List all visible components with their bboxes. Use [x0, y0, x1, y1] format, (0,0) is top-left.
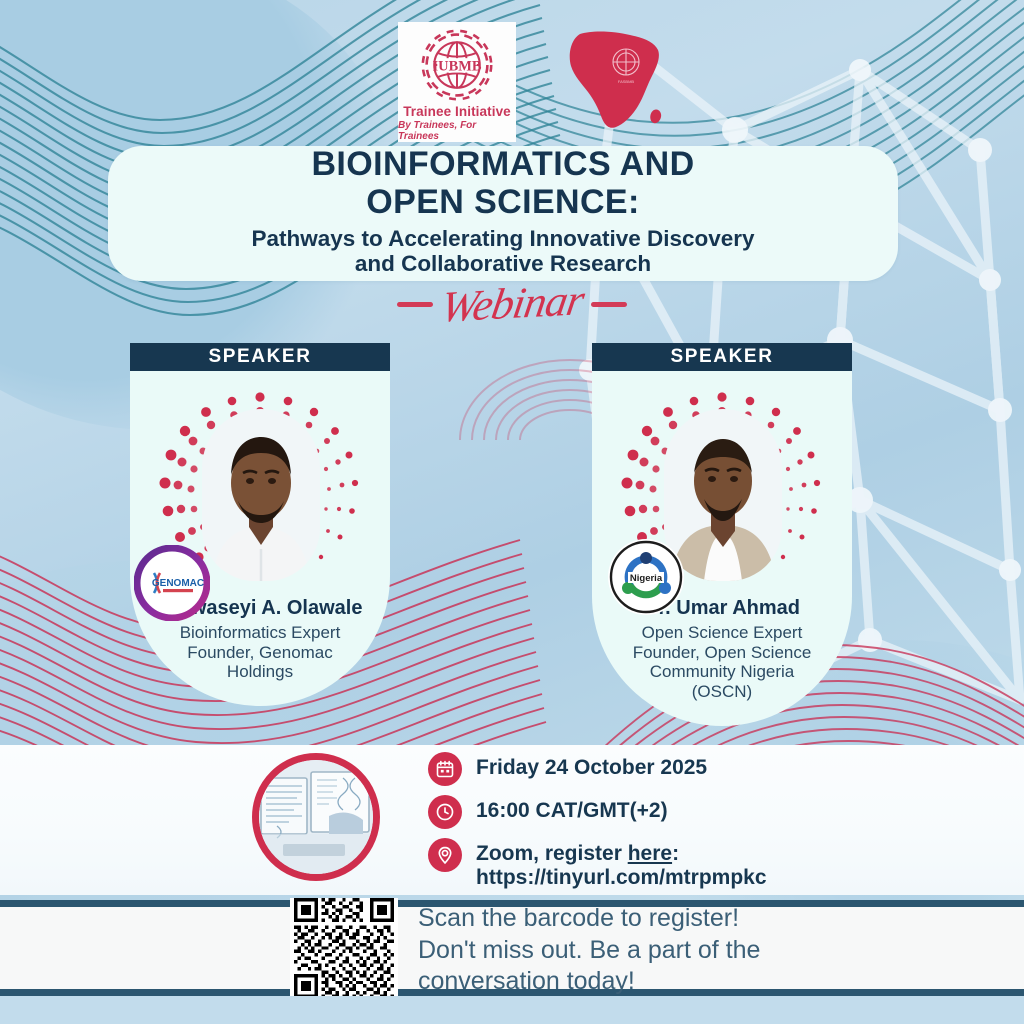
event-link-row[interactable]: Zoom, register here: https://tinyurl.com… [428, 838, 948, 891]
webinar-dash-left [397, 302, 433, 307]
subtitle-line-2: and Collaborative Research [251, 251, 754, 276]
clock-icon [428, 795, 462, 829]
event-details-list: Friday 24 October 2025 16:00 CAT/GMT(+2) [428, 752, 948, 900]
genomac-label: GENOMAC [152, 578, 204, 589]
iubmb-tagline-2: By Trainees, For Trainees [398, 120, 516, 142]
speaker-1-badge: GENOMAC [134, 545, 210, 621]
speaker-1-portrait [202, 409, 320, 581]
africa-map-icon: FASBMB [558, 26, 676, 142]
footer-line-1: Scan the barcode to register! [418, 903, 978, 935]
speaker-1-role: Bioinformatics Expert Founder, Genomac H… [180, 623, 341, 682]
speaker-2-role-line-3: Community Nigeria [633, 662, 812, 682]
register-url[interactable]: https://tinyurl.com/mtrpmpkc [476, 866, 767, 889]
event-date-row: Friday 24 October 2025 [428, 752, 948, 786]
speaker-2-role: Open Science Expert Founder, Open Scienc… [633, 623, 812, 702]
oscn-nigeria-logo-icon: Nigeria [608, 539, 684, 615]
register-prefix: Zoom, register [476, 842, 628, 865]
webinar-poster: IUBMB Trainee Initiative By Trainees, Fo… [0, 0, 1024, 1024]
calendar-icon [428, 752, 462, 786]
speaker-2-role-line-4: (OSCN) [633, 682, 812, 702]
genomac-logo-icon: GENOMAC [134, 545, 210, 621]
speaker-1-role-line-2: Founder, Genomac [180, 643, 341, 663]
oscn-label: Nigeria [630, 573, 663, 584]
speaker-2-role-line-2: Founder, Open Science [633, 643, 812, 663]
speaker-card-1: SPEAKER [130, 343, 390, 706]
bioinformatics-workstation-photo [252, 753, 380, 881]
iubmb-globe-icon: IUBMB [418, 27, 496, 103]
footer-bottom-strip [0, 996, 1024, 1024]
webinar-script-label: Webinar [0, 276, 1024, 332]
register-suffix: : [672, 842, 679, 865]
event-time-row: 16:00 CAT/GMT(+2) [428, 795, 948, 829]
footer-cta-text: Scan the barcode to register! Don't miss… [418, 903, 978, 998]
speaker-1-role-line-1: Bioinformatics Expert [180, 623, 341, 643]
iubmb-logo: IUBMB Trainee Initiative By Trainees, Fo… [398, 22, 516, 142]
event-time-text: 16:00 CAT/GMT(+2) [476, 795, 668, 823]
speaker-1-header: SPEAKER [130, 343, 390, 371]
speaker-1-photo-wrap: GENOMAC [156, 389, 364, 585]
africa-emblem-caption: FASBMB [618, 79, 635, 84]
speaker-1-role-line-3: Holdings [180, 662, 341, 682]
speaker-2-role-line-1: Open Science Expert [633, 623, 812, 643]
event-link-text[interactable]: Zoom, register here: https://tinyurl.com… [476, 838, 767, 891]
footer-line-3: conversation today! [418, 966, 978, 998]
page-subtitle: Pathways to Accelerating Innovative Disc… [251, 226, 754, 277]
speaker-2-header: SPEAKER [592, 343, 852, 371]
event-date-text: Friday 24 October 2025 [476, 752, 707, 780]
title-line-1: BIOINFORMATICS AND [311, 145, 694, 183]
footer-line-2: Don't miss out. Be a part of the [418, 935, 978, 967]
iubmb-tagline-1: Trainee Initiative [403, 104, 511, 119]
title-panel: BIOINFORMATICS AND OPEN SCIENCE: Pathway… [108, 146, 898, 281]
title-line-2: OPEN SCIENCE: [311, 185, 694, 220]
subtitle-line-1: Pathways to Accelerating Innovative Disc… [251, 226, 754, 251]
webinar-word: Webinar [438, 278, 587, 329]
page-title: BIOINFORMATICS AND OPEN SCIENCE: [311, 147, 694, 220]
speaker-2-photo-wrap: Nigeria [618, 389, 826, 585]
speaker-1-body: GENOMAC Oluwaseyi A. Olawale Bioinformat… [130, 371, 390, 706]
location-pin-icon [428, 838, 462, 872]
qr-code-icon[interactable] [290, 898, 398, 998]
iubmb-acronym: IUBMB [433, 58, 482, 74]
register-here-link[interactable]: here [628, 842, 672, 865]
speaker-2-body: Nigeria Dr. Umar Ahmad Open Science Expe… [592, 371, 852, 726]
speaker-card-2: SPEAKER [592, 343, 852, 726]
webinar-dash-right [591, 302, 627, 307]
speaker-2-badge: Nigeria [608, 539, 684, 615]
